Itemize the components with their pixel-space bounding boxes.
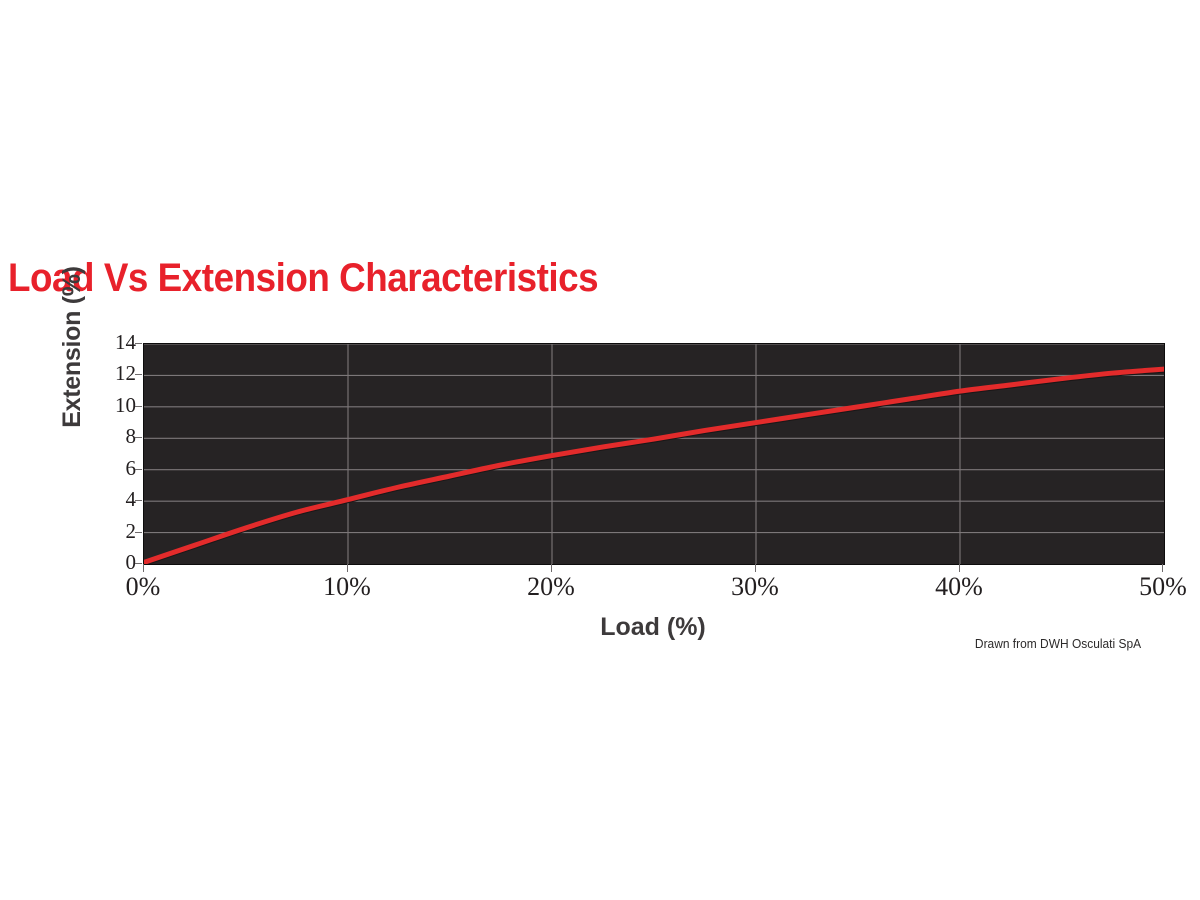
y-tick-mark	[135, 343, 142, 344]
x-tick-label: 30%	[695, 573, 815, 601]
page-title: Load Vs Extension Characteristics	[8, 255, 598, 301]
x-tick-label: 40%	[899, 573, 1019, 601]
x-tick-mark	[755, 564, 756, 572]
x-tick-mark	[1162, 564, 1163, 572]
y-tick-label: 12	[76, 363, 136, 384]
y-tick-label: 2	[76, 521, 136, 542]
y-tick-mark	[135, 406, 142, 407]
plot-svg	[144, 344, 1164, 564]
gridlines	[144, 344, 1164, 564]
y-tick-label: 4	[76, 489, 136, 510]
x-tick-mark	[551, 564, 552, 572]
series-line-load-extension	[144, 369, 1164, 562]
y-tick-mark	[135, 500, 142, 501]
chart-figure: Load Vs Extension Characteristics Extens…	[0, 0, 1200, 900]
x-tick-label: 50%	[1103, 573, 1200, 601]
x-tick-label: 10%	[287, 573, 407, 601]
x-axis-ticks: 0%10%20%30%40%50%	[143, 573, 1163, 607]
y-tick-label: 10	[76, 395, 136, 416]
y-tick-label: 0	[76, 552, 136, 573]
y-tick-mark	[135, 469, 142, 470]
y-tick-mark	[135, 437, 142, 438]
x-tick-label: 0%	[83, 573, 203, 601]
x-tick-mark	[143, 564, 144, 572]
series-shadow-line	[144, 371, 1164, 564]
y-tick-mark	[135, 532, 142, 533]
x-tick-mark	[959, 564, 960, 572]
y-axis-ticks: 02468101214	[70, 343, 136, 563]
x-tick-mark	[347, 564, 348, 572]
x-tick-label: 20%	[491, 573, 611, 601]
y-tick-mark	[135, 374, 142, 375]
y-tick-label: 8	[76, 426, 136, 447]
source-note: Drawn from DWH Osculati SpA	[943, 636, 1173, 652]
plot-area	[143, 343, 1165, 565]
x-axis-label: Load (%)	[503, 612, 803, 642]
y-tick-label: 14	[76, 332, 136, 353]
y-tick-mark	[135, 563, 142, 564]
y-tick-label: 6	[76, 458, 136, 479]
